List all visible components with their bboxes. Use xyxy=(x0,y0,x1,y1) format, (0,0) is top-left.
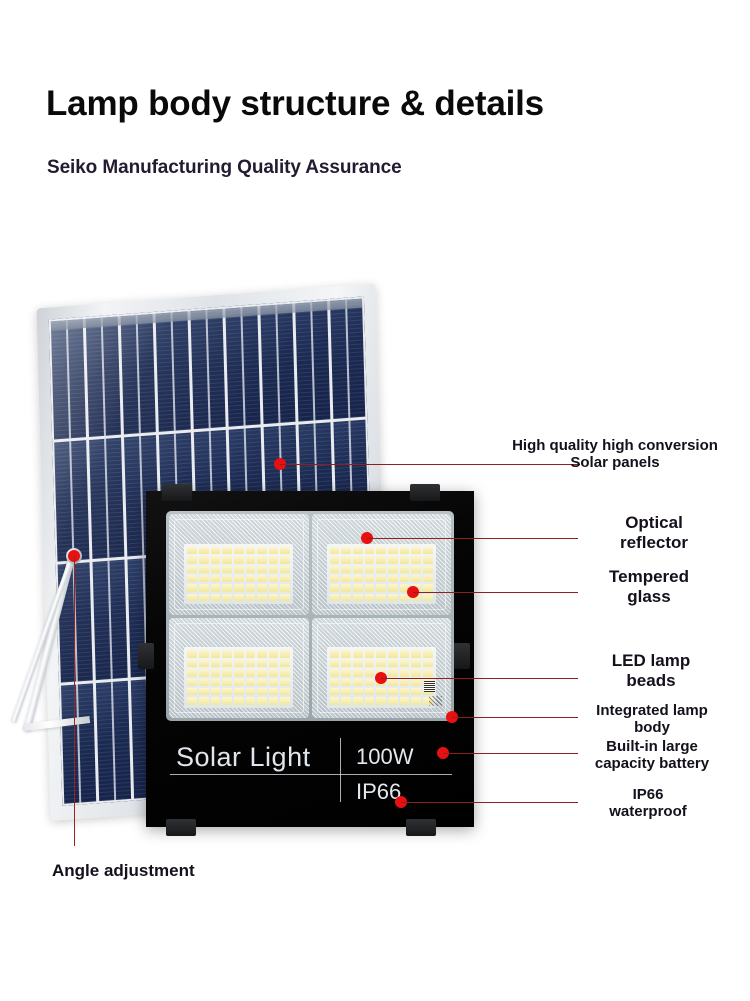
led-bead xyxy=(269,584,279,591)
callout-line-2: reflector xyxy=(583,533,725,553)
led-bead xyxy=(388,650,398,657)
led-bead xyxy=(257,556,267,563)
led-bead xyxy=(365,688,375,695)
led-bead xyxy=(280,669,290,676)
led-bead xyxy=(187,688,197,695)
led-bead xyxy=(411,575,421,582)
solar-cell xyxy=(295,301,330,422)
led-bead xyxy=(257,660,267,667)
led-bead xyxy=(222,547,232,554)
led-bead xyxy=(280,584,290,591)
callout-label-led-lamp-beads: LED lamp beads xyxy=(580,651,722,690)
led-bead xyxy=(187,566,197,573)
callout-line-1: Tempered xyxy=(578,567,720,587)
led-bead xyxy=(222,679,232,686)
angle-adjustment-bracket xyxy=(22,548,96,780)
led-bead xyxy=(341,650,351,657)
led-bead xyxy=(353,650,363,657)
led-bead xyxy=(222,584,232,591)
callout-leader-optical-reflector xyxy=(367,538,578,539)
callout-line-2: body xyxy=(576,719,728,736)
callout-line-1: High quality high conversion xyxy=(506,437,724,454)
led-module xyxy=(312,618,452,719)
led-bead xyxy=(269,688,279,695)
led-bead xyxy=(341,688,351,695)
led-bead xyxy=(365,556,375,563)
led-bead xyxy=(246,575,256,582)
led-bead xyxy=(199,650,209,657)
led-module xyxy=(312,514,452,615)
product-detail-page: Lamp body structure & details Seiko Manu… xyxy=(0,0,750,1001)
led-bead xyxy=(234,547,244,554)
led-bead xyxy=(234,688,244,695)
led-bead xyxy=(423,556,433,563)
led-panel-face xyxy=(166,511,454,721)
led-bead xyxy=(280,575,290,582)
led-bead xyxy=(376,547,386,554)
led-bead xyxy=(187,575,197,582)
callout-leader-tempered-glass xyxy=(413,592,578,593)
led-bead xyxy=(222,660,232,667)
led-bead xyxy=(257,547,267,554)
solar-cell xyxy=(54,440,89,561)
led-module xyxy=(169,618,309,719)
led-bead xyxy=(411,660,421,667)
led-bead xyxy=(199,584,209,591)
led-bead xyxy=(388,547,398,554)
led-bead xyxy=(376,697,386,704)
led-bead xyxy=(400,697,410,704)
led-bead xyxy=(400,650,410,657)
led-bead xyxy=(280,566,290,573)
led-bead xyxy=(400,556,410,563)
bracket-arm-primary xyxy=(24,549,77,731)
led-bead xyxy=(199,575,209,582)
led-bead xyxy=(199,697,209,704)
led-bead xyxy=(211,566,221,573)
led-bead xyxy=(187,650,197,657)
led-bead xyxy=(269,594,279,601)
led-bead xyxy=(388,594,398,601)
mounting-bracket-bottom-left xyxy=(166,819,196,836)
led-bead-grid xyxy=(327,544,436,604)
led-bead xyxy=(199,566,209,573)
callout-line-1: Optical xyxy=(583,513,725,533)
led-bead xyxy=(330,660,340,667)
led-bead xyxy=(211,575,221,582)
led-bead xyxy=(353,594,363,601)
led-bead xyxy=(234,584,244,591)
led-bead xyxy=(234,669,244,676)
led-bead xyxy=(353,566,363,573)
led-bead xyxy=(388,566,398,573)
callout-line-1: IP66 xyxy=(578,786,718,803)
led-bead xyxy=(376,566,386,573)
callout-label-tempered-glass: Tempered glass xyxy=(578,567,720,606)
led-bead xyxy=(222,669,232,676)
callout-label-solar-panels: High quality high conversion Solar panel… xyxy=(506,437,724,472)
led-bead xyxy=(388,688,398,695)
solar-cell xyxy=(51,319,86,440)
led-bead xyxy=(211,556,221,563)
mounting-bracket-side-left xyxy=(138,643,154,669)
led-bead xyxy=(376,556,386,563)
callout-line-2: Solar panels xyxy=(506,454,724,471)
led-bead xyxy=(199,688,209,695)
led-bead xyxy=(423,669,433,676)
led-bead xyxy=(269,566,279,573)
led-bead-grid xyxy=(184,544,293,604)
solar-cell xyxy=(92,559,127,680)
solar-cell xyxy=(89,438,124,559)
led-bead xyxy=(187,679,197,686)
led-bead xyxy=(353,679,363,686)
led-bead xyxy=(353,584,363,591)
led-bead xyxy=(388,697,398,704)
solar-cell xyxy=(190,309,225,430)
callout-line-1: LED lamp xyxy=(580,651,722,671)
led-bead xyxy=(246,679,256,686)
led-bead xyxy=(211,594,221,601)
led-bead xyxy=(222,697,232,704)
led-bead xyxy=(269,556,279,563)
led-bead xyxy=(341,679,351,686)
led-bead xyxy=(411,556,421,563)
led-bead xyxy=(400,688,410,695)
led-bead xyxy=(330,575,340,582)
led-bead xyxy=(246,584,256,591)
led-bead xyxy=(269,697,279,704)
led-bead xyxy=(411,547,421,554)
led-bead xyxy=(341,669,351,676)
led-bead xyxy=(257,584,267,591)
led-bead xyxy=(388,575,398,582)
led-bead xyxy=(280,660,290,667)
led-bead xyxy=(376,584,386,591)
wattage-label: 100W xyxy=(356,744,413,770)
led-bead-grid xyxy=(184,647,293,707)
brand-divider-horizontal xyxy=(170,774,452,775)
led-bead xyxy=(199,660,209,667)
led-bead xyxy=(269,660,279,667)
led-bead xyxy=(365,584,375,591)
solar-cell xyxy=(86,317,121,438)
led-bead xyxy=(234,556,244,563)
callout-leader-angle-adjustment xyxy=(74,556,75,846)
led-bead xyxy=(187,594,197,601)
led-bead xyxy=(365,697,375,704)
led-bead xyxy=(400,547,410,554)
callout-line-1: Angle adjustment xyxy=(52,861,282,881)
solar-cell xyxy=(225,306,260,427)
led-bead xyxy=(400,669,410,676)
led-bead xyxy=(388,660,398,667)
mounting-bracket-bottom-right xyxy=(406,819,436,836)
led-bead xyxy=(353,697,363,704)
led-bead xyxy=(222,650,232,657)
led-bead xyxy=(376,688,386,695)
solar-cell xyxy=(156,311,191,432)
led-bead xyxy=(257,575,267,582)
led-bead xyxy=(246,688,256,695)
callout-label-integrated-lamp-body: Integrated lamp body xyxy=(576,702,728,737)
led-bead xyxy=(353,575,363,582)
callout-line-1: Built-in large xyxy=(572,738,732,755)
solar-cell xyxy=(260,304,295,425)
brand-name: Solar Light xyxy=(176,742,311,773)
led-bead xyxy=(353,669,363,676)
led-bead xyxy=(187,669,197,676)
led-bead xyxy=(365,566,375,573)
led-bead xyxy=(222,566,232,573)
led-bead xyxy=(199,679,209,686)
callout-leader-built-in-battery xyxy=(443,753,578,754)
led-bead xyxy=(341,697,351,704)
callout-line-1: Integrated lamp xyxy=(576,702,728,719)
led-bead xyxy=(411,697,421,704)
led-bead xyxy=(211,547,221,554)
callout-line-2: glass xyxy=(578,587,720,607)
led-bead xyxy=(388,584,398,591)
led-bead xyxy=(257,669,267,676)
certification-mark-icon xyxy=(429,696,442,706)
led-bead xyxy=(423,584,433,591)
led-bead xyxy=(234,575,244,582)
led-bead xyxy=(365,679,375,686)
mounting-bracket-top-right xyxy=(410,484,440,501)
led-bead xyxy=(234,697,244,704)
led-bead xyxy=(353,547,363,554)
led-bead xyxy=(234,660,244,667)
led-bead xyxy=(330,650,340,657)
led-bead xyxy=(222,556,232,563)
callout-label-built-in-battery: Built-in large capacity battery xyxy=(572,738,732,773)
led-bead xyxy=(257,594,267,601)
led-bead xyxy=(280,679,290,686)
product-photo: Solar Light 100W IP66 High quality high … xyxy=(0,0,750,1001)
callout-label-angle-adjustment: Angle adjustment xyxy=(52,861,282,881)
led-bead xyxy=(365,594,375,601)
led-bead xyxy=(246,556,256,563)
solar-cell xyxy=(330,299,365,420)
led-bead xyxy=(234,594,244,601)
led-bead xyxy=(246,566,256,573)
led-bead xyxy=(376,650,386,657)
led-bead xyxy=(280,697,290,704)
led-bead xyxy=(199,669,209,676)
led-bead xyxy=(269,575,279,582)
led-bead xyxy=(341,660,351,667)
led-bead xyxy=(246,697,256,704)
led-bead xyxy=(257,688,267,695)
led-bead xyxy=(423,566,433,573)
led-bead xyxy=(269,650,279,657)
led-bead xyxy=(199,547,209,554)
callout-line-2: waterproof xyxy=(578,803,718,820)
led-bead xyxy=(411,679,421,686)
led-bead xyxy=(246,594,256,601)
led-bead xyxy=(411,650,421,657)
callout-label-ip66-waterproof: IP66 waterproof xyxy=(578,786,718,821)
led-bead xyxy=(330,679,340,686)
led-bead xyxy=(269,669,279,676)
led-bead xyxy=(330,594,340,601)
led-bead xyxy=(211,688,221,695)
led-bead xyxy=(411,669,421,676)
led-bead xyxy=(257,566,267,573)
brand-divider-vertical xyxy=(340,738,341,802)
led-bead xyxy=(257,679,267,686)
led-bead xyxy=(211,669,221,676)
led-bead xyxy=(341,566,351,573)
led-bead xyxy=(211,679,221,686)
led-bead xyxy=(246,650,256,657)
led-bead xyxy=(365,650,375,657)
led-bead xyxy=(257,650,267,657)
led-bead xyxy=(423,660,433,667)
led-bead xyxy=(280,594,290,601)
barcode-sticker-icon xyxy=(424,681,435,692)
led-bead xyxy=(330,669,340,676)
led-bead xyxy=(423,547,433,554)
branding-plate: Solar Light 100W IP66 xyxy=(170,738,452,810)
led-bead xyxy=(199,594,209,601)
solar-cell xyxy=(121,314,156,435)
led-bead xyxy=(388,679,398,686)
led-bead xyxy=(269,679,279,686)
led-bead xyxy=(234,566,244,573)
led-bead xyxy=(400,660,410,667)
led-bead xyxy=(280,688,290,695)
led-bead xyxy=(400,679,410,686)
led-bead xyxy=(211,697,221,704)
led-bead xyxy=(341,575,351,582)
led-bead xyxy=(211,660,221,667)
led-bead xyxy=(400,575,410,582)
led-bead xyxy=(222,688,232,695)
led-bead xyxy=(187,547,197,554)
led-bead xyxy=(330,688,340,695)
mounting-bracket-top-left xyxy=(162,484,192,501)
callout-leader-integrated-lamp-body xyxy=(452,717,578,718)
led-bead xyxy=(211,650,221,657)
led-bead xyxy=(246,669,256,676)
led-bead xyxy=(353,688,363,695)
solar-cell xyxy=(96,681,131,802)
led-module xyxy=(169,514,309,615)
led-bead xyxy=(341,547,351,554)
led-bead xyxy=(400,566,410,573)
led-bead xyxy=(411,566,421,573)
led-bead xyxy=(330,697,340,704)
led-bead xyxy=(187,584,197,591)
led-bead xyxy=(187,660,197,667)
callout-line-2: capacity battery xyxy=(572,755,732,772)
lamp-housing: Solar Light 100W IP66 xyxy=(146,491,474,827)
led-bead xyxy=(269,547,279,554)
callout-line-2: beads xyxy=(580,671,722,691)
led-bead xyxy=(411,688,421,695)
led-bead xyxy=(234,679,244,686)
led-bead xyxy=(365,547,375,554)
led-bead xyxy=(199,556,209,563)
led-bead xyxy=(341,594,351,601)
led-bead xyxy=(330,547,340,554)
led-bead xyxy=(423,594,433,601)
led-bead xyxy=(211,584,221,591)
callout-leader-led-lamp-beads xyxy=(381,678,578,679)
led-bead xyxy=(353,660,363,667)
led-bead xyxy=(341,556,351,563)
led-bead xyxy=(353,556,363,563)
led-bead xyxy=(234,650,244,657)
mounting-bracket-side-right xyxy=(452,643,470,669)
led-bead xyxy=(330,556,340,563)
led-bead xyxy=(423,650,433,657)
led-bead xyxy=(376,660,386,667)
led-bead xyxy=(388,669,398,676)
callout-leader-ip66-waterproof xyxy=(401,802,578,803)
led-bead xyxy=(222,594,232,601)
led-bead xyxy=(280,650,290,657)
bracket-foot xyxy=(24,716,90,731)
led-bead xyxy=(257,697,267,704)
led-bead xyxy=(187,697,197,704)
led-bead xyxy=(330,584,340,591)
led-bead xyxy=(246,660,256,667)
led-bead xyxy=(365,575,375,582)
led-bead xyxy=(280,547,290,554)
led-bead xyxy=(280,556,290,563)
led-bead xyxy=(365,669,375,676)
callout-label-optical-reflector: Optical reflector xyxy=(583,513,725,552)
led-bead xyxy=(187,556,197,563)
led-bead xyxy=(222,575,232,582)
led-bead xyxy=(376,594,386,601)
bracket-arm-secondary xyxy=(11,549,76,722)
led-bead xyxy=(376,575,386,582)
led-bead xyxy=(423,575,433,582)
led-bead xyxy=(330,566,340,573)
led-bead xyxy=(388,556,398,563)
led-bead xyxy=(365,660,375,667)
led-bead xyxy=(341,584,351,591)
led-bead xyxy=(246,547,256,554)
